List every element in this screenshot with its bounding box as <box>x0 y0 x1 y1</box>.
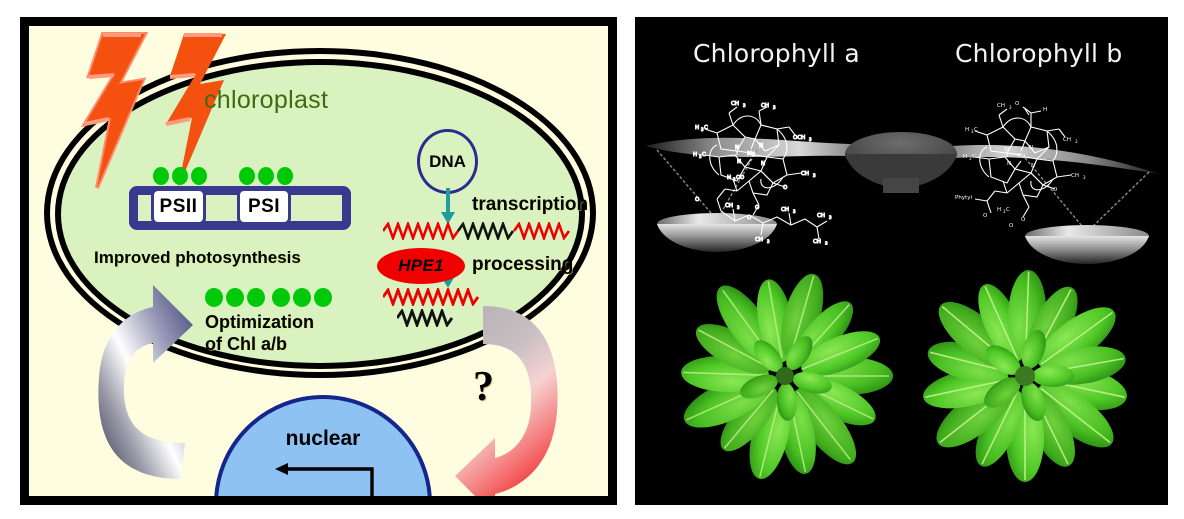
svg-text:OCH: OCH <box>793 135 805 141</box>
svg-text:O: O <box>1009 223 1014 229</box>
svg-text:3: 3 <box>1009 105 1012 110</box>
lightning-bolt-icon <box>71 32 161 197</box>
svg-text:N: N <box>735 145 739 151</box>
svg-text:CH: CH <box>781 207 789 213</box>
svg-text:3: 3 <box>1083 175 1086 180</box>
optimization-line-1: Optimization <box>205 312 314 334</box>
svg-text:H: H <box>695 125 699 131</box>
svg-text:CH: CH <box>997 103 1005 109</box>
chlorophyll-b-title: Chlorophyll b <box>955 39 1122 68</box>
chloroplast-to-nucleus-arrow <box>449 304 579 505</box>
chlorophyll-pigment-dot <box>293 288 311 307</box>
left-diagram-panel: chloroplast PSII PSI Improved photosynth… <box>20 17 617 505</box>
svg-text:C: C <box>702 152 706 158</box>
svg-text:CH: CH <box>731 101 739 107</box>
svg-text:Mg: Mg <box>747 151 755 157</box>
chlorophyll-pigment-dot <box>226 288 244 307</box>
arabidopsis-rosettes <box>635 264 1168 505</box>
svg-text:O: O <box>1053 187 1058 193</box>
svg-text:O: O <box>755 205 760 211</box>
gene-transcription-arrow-icon <box>270 461 380 505</box>
svg-text:3: 3 <box>829 215 832 220</box>
left-panel-canvas: chloroplast PSII PSI Improved photosynth… <box>29 26 608 496</box>
svg-text:O: O <box>783 185 788 191</box>
svg-text:Phytyl: Phytyl <box>955 195 972 201</box>
psii-antenna-pigments <box>153 167 207 185</box>
psi-antenna-pigments <box>239 167 293 185</box>
svg-text:Mg: Mg <box>1017 153 1025 159</box>
svg-text:3: 3 <box>809 137 812 142</box>
chloroplast-to-photosynthesis-arrow <box>81 281 221 505</box>
nucleus: nuclear Chlorophyll related genes <box>214 395 432 505</box>
primary-transcript-rna <box>383 222 573 245</box>
svg-text:CH: CH <box>761 103 769 109</box>
photosystem-i-box: PSI <box>237 188 291 225</box>
svg-text:N: N <box>1031 163 1035 169</box>
svg-text:3: 3 <box>743 103 746 108</box>
chlorophyll-pigment-dot <box>272 288 290 307</box>
figure-root: chloroplast PSII PSI Improved photosynth… <box>0 0 1184 519</box>
chlorophyll-a-title: Chlorophyll a <box>693 39 860 68</box>
processing-label: processing <box>472 254 573 276</box>
chlorophyll-pigment-dot <box>191 167 207 185</box>
chlorophyll-a-structure: CH3 CH3 OCH3 H3C H3C CH3 Mg NN NN O O O … <box>689 95 839 250</box>
svg-text:N: N <box>1005 147 1009 153</box>
svg-text:H: H <box>963 154 967 160</box>
svg-text:O: O <box>1015 101 1020 107</box>
svg-text:C: C <box>704 125 708 131</box>
chlorophyll-pigment-dot <box>153 167 169 185</box>
svg-text:C: C <box>974 127 978 133</box>
svg-text:O: O <box>983 213 988 219</box>
svg-text:CH: CH <box>1071 173 1079 179</box>
svg-text:H: H <box>965 127 969 133</box>
svg-text:3: 3 <box>767 239 770 244</box>
svg-text:CH: CH <box>1063 137 1071 143</box>
rosette-left <box>677 269 893 483</box>
svg-text:CH: CH <box>725 203 733 209</box>
svg-text:CO: CO <box>736 175 745 181</box>
unknown-signal-marker: ? <box>473 363 494 411</box>
chloroplast-label: chloroplast <box>204 86 328 115</box>
svg-text:CH: CH <box>755 237 763 243</box>
chlorophyll-pigment-dot <box>247 288 265 307</box>
svg-text:C: C <box>1006 207 1010 213</box>
optimization-line-2: of Chl a/b <box>205 334 314 356</box>
photosystem-ii-box: PSII <box>151 188 206 225</box>
svg-text:O: O <box>747 215 752 221</box>
svg-text:N: N <box>737 159 741 165</box>
svg-text:CH: CH <box>801 171 809 177</box>
svg-text:3: 3 <box>793 209 796 214</box>
svg-text:C: C <box>972 154 976 160</box>
svg-text:3: 3 <box>737 205 740 210</box>
svg-text:H: H <box>693 152 697 158</box>
chlorophyll-pigment-dot <box>239 167 255 185</box>
chloroplast-dna-circle: DNA <box>417 129 478 194</box>
svg-text:N: N <box>761 161 765 167</box>
transcription-label: transcription <box>472 194 588 216</box>
svg-text:H: H <box>727 175 731 181</box>
optimization-label: Optimization of Chl a/b <box>205 312 314 356</box>
svg-text:3: 3 <box>825 241 828 245</box>
svg-text:3: 3 <box>773 105 776 110</box>
chlorophyll-pigment-dot <box>258 167 274 185</box>
svg-text:O: O <box>695 197 700 203</box>
svg-text:N: N <box>1007 161 1011 167</box>
svg-text:CH: CH <box>813 239 821 245</box>
svg-text:3: 3 <box>1075 139 1078 144</box>
svg-text:O: O <box>1021 217 1026 223</box>
svg-text:N: N <box>1029 145 1033 151</box>
svg-text:N: N <box>759 143 763 149</box>
nucleus-label: nuclear <box>218 427 428 451</box>
right-photo-panel: Chlorophyll a Chlorophyll b <box>635 17 1168 505</box>
hpe1-factor-badge: HPE1 <box>377 248 465 284</box>
improved-photosynthesis-label: Improved photosynthesis <box>94 248 301 268</box>
chlorophyll-b-structure: CH3 O H CH3 H3C H3C CH3 Mg NN NN Phytyl … <box>953 95 1103 250</box>
svg-text:H: H <box>997 207 1001 213</box>
optimization-pigment-group-b <box>272 288 332 307</box>
chlorophyll-pigment-dot <box>172 167 188 185</box>
svg-text:CH: CH <box>817 213 825 219</box>
svg-text:H: H <box>1043 107 1047 113</box>
svg-text:3: 3 <box>813 173 816 178</box>
chlorophyll-pigment-dot <box>277 167 293 185</box>
rosette-right <box>920 269 1131 482</box>
chlorophyll-pigment-dot <box>314 288 332 307</box>
nuclear-gene-dna-helix <box>256 503 396 505</box>
